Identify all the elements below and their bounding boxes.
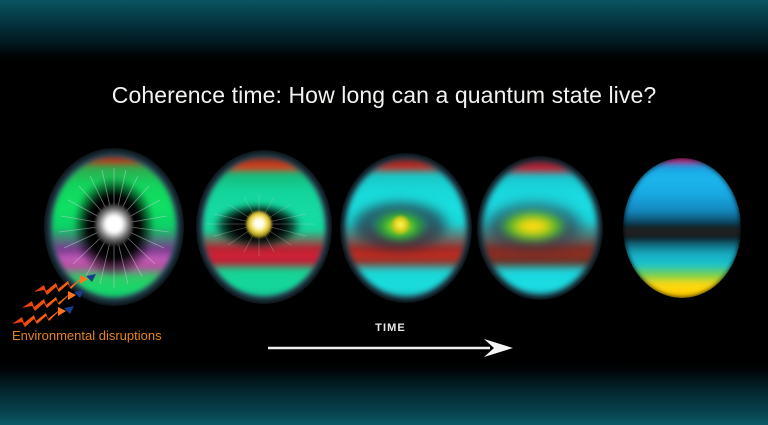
quantum-state-sphere-4 bbox=[477, 156, 603, 300]
time-axis: TIME bbox=[268, 322, 513, 358]
page-title: Coherence time: How long can a quantum s… bbox=[0, 82, 768, 109]
time-arrow-icon bbox=[268, 339, 513, 357]
top-vignette-band bbox=[0, 0, 768, 62]
sphere-4-yellow-ellipse bbox=[499, 209, 573, 245]
quantum-state-sphere-5 bbox=[623, 158, 741, 298]
sphere-1-core bbox=[95, 204, 133, 246]
environmental-disruptions-label: Environmental disruptions bbox=[12, 328, 162, 343]
sphere-5-body bbox=[623, 158, 741, 298]
sphere-2-core bbox=[246, 211, 272, 238]
bottom-vignette-band bbox=[0, 363, 768, 425]
illustration-canvas: Coherence time: How long can a quantum s… bbox=[0, 0, 768, 425]
environmental-disruptions-annotation: Environmental disruptions bbox=[6, 272, 181, 352]
time-axis-label: TIME bbox=[268, 322, 513, 334]
sphere-3-core bbox=[392, 216, 409, 234]
quantum-state-sphere-2 bbox=[196, 150, 332, 304]
lightning-bolt-icon bbox=[12, 272, 172, 328]
quantum-state-sphere-3 bbox=[340, 153, 472, 303]
